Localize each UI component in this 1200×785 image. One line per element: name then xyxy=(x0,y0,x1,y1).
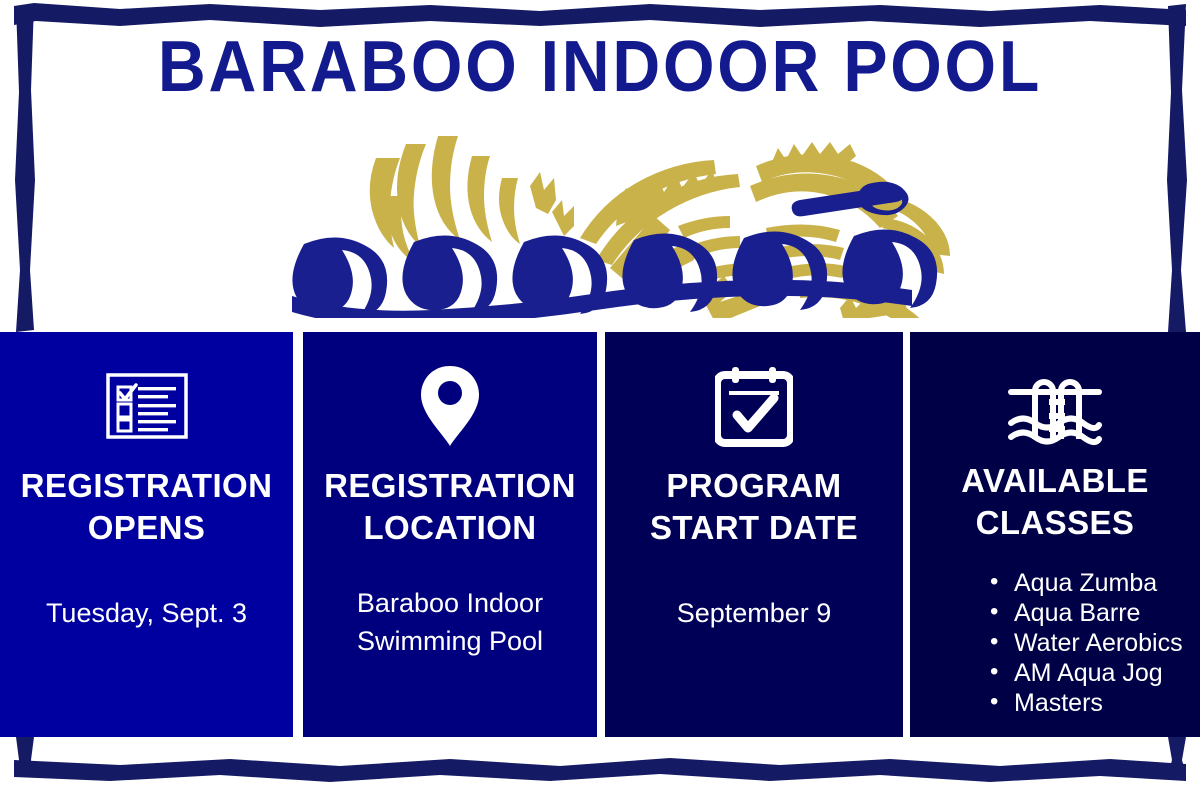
pool-ladder-waves-icon xyxy=(910,364,1200,448)
panel-registration-location: REGISTRATION LOCATION Baraboo Indoor Swi… xyxy=(303,332,597,737)
panel-heading: REGISTRATION LOCATION xyxy=(303,465,597,549)
panel-registration-opens: REGISTRATION OPENS Tuesday, Sept. 3 xyxy=(0,332,293,737)
page-title: BARABOO INDOOR POOL xyxy=(48,28,1152,106)
list-item: Masters xyxy=(988,688,1200,718)
panel-body-text: Tuesday, Sept. 3 xyxy=(0,594,293,632)
available-classes-list: Aqua Zumba Aqua Barre Water Aerobics AM … xyxy=(910,568,1200,718)
list-item: AM Aqua Jog xyxy=(988,658,1200,688)
poster-flyer: BARABOO INDOOR POOL xyxy=(0,0,1200,785)
checklist-form-icon xyxy=(0,364,293,448)
info-panels: REGISTRATION OPENS Tuesday, Sept. 3 REGI… xyxy=(0,332,1200,737)
list-item: Aqua Zumba xyxy=(988,568,1200,598)
list-item: Water Aerobics xyxy=(988,628,1200,658)
calendar-check-icon xyxy=(605,364,903,448)
poster-header: BARABOO INDOOR POOL xyxy=(0,0,1200,332)
baraboo-thunderbird-waves-logo xyxy=(280,118,980,318)
panel-program-start-date: PROGRAM START DATE September 9 xyxy=(605,332,903,737)
panel-body-text: Baraboo Indoor Swimming Pool xyxy=(303,584,597,660)
panel-heading: REGISTRATION OPENS xyxy=(0,465,293,549)
panel-heading: AVAILABLE CLASSES xyxy=(910,460,1200,544)
panel-body-text: September 9 xyxy=(605,594,903,632)
map-pin-icon xyxy=(303,364,597,448)
panel-available-classes: AVAILABLE CLASSES Aqua Zumba Aqua Barre … xyxy=(910,332,1200,737)
list-item: Aqua Barre xyxy=(988,598,1200,628)
panel-heading: PROGRAM START DATE xyxy=(605,465,903,549)
